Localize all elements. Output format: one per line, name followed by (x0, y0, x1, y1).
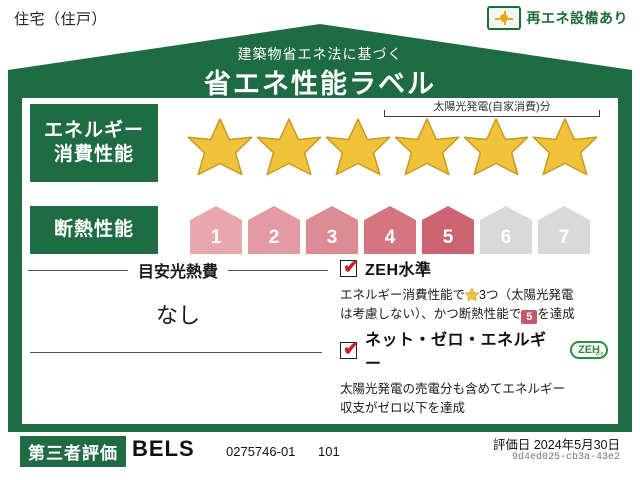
energy-label-line1: エネルギー (44, 119, 144, 143)
net-zero-energy-check-block: ✔ ネット・ゼロ・エネルギー ZEHﾏｰｸ 太陽光発電の売電分も含めてエネルギー… (340, 326, 608, 418)
insulation-chip-5: 5 (420, 204, 476, 256)
third-party-eval-badge: 第三者評価 (20, 436, 126, 467)
insulation-performance-label-box: 断熱性能 (30, 206, 158, 254)
star-2 (253, 118, 325, 176)
zeh-check-head: ✔ ZEH水準 (340, 256, 608, 280)
bels-logo: BELS (132, 436, 195, 462)
solar-bracket-note: 太陽光発電(自家消費)分 (384, 98, 600, 114)
nze-title: ネット・ゼロ・エネルギー (365, 326, 556, 374)
certificate-number-secondary: 101 (318, 444, 340, 459)
energy-performance-label-box: エネルギー 消費性能 (30, 104, 158, 182)
zeh-desc-level-chip: 5 (521, 310, 537, 324)
zeh-desc-part2: 3つ（太陽光発電 (479, 288, 573, 302)
star-4 (391, 118, 463, 176)
certificate-number: 0275746-01 (226, 444, 295, 459)
zeh-title: ZEH水準 (365, 256, 432, 280)
star-5 (460, 118, 532, 176)
zeh-mark-sub: ﾏｰｸ (595, 348, 603, 362)
nze-description: 太陽光発電の売電分も含めてエネルギー 収支がゼロ以下を達成 (340, 380, 608, 418)
zeh-checkbox: ✔ (340, 260, 357, 277)
insulation-chip-7: 7 (536, 204, 592, 256)
nze-desc-line1: 太陽光発電の売電分も含めてエネルギー (340, 382, 565, 396)
label-title: 省エネ性能ラベル (8, 62, 632, 101)
star-3 (322, 118, 394, 176)
star-1 (184, 118, 256, 176)
nze-check-head: ✔ ネット・ゼロ・エネルギー ZEHﾏｰｸ (340, 326, 608, 374)
label-subtitle: 建築物省エネ法に基づく (8, 44, 632, 64)
energy-star-rating (184, 118, 604, 176)
energy-performance-label: 住宅（住戸） 再エネ設備あり 建築物省エネ法に基づく 省エネ性能ラベル エネルギ… (0, 0, 640, 480)
utility-cost-value: なし (28, 298, 328, 330)
zeh-desc-line2a: は考慮しない）、かつ断熱性能で (340, 307, 521, 321)
footer: 第三者評価 BELS 0275746-01 101 評価日 2024年5月30日… (8, 430, 632, 472)
solar-consumption-bracket: 太陽光発電(自家消費)分 (384, 98, 600, 120)
zeh-check-block: ✔ ZEH水準 エネルギー消費性能で3つ（太陽光発電 は考慮しない）、かつ断熱性… (340, 256, 608, 324)
insulation-level-chips: 1234567 (188, 204, 600, 258)
insulation-chip-3: 3 (304, 204, 360, 256)
insulation-chip-2: 2 (246, 204, 302, 256)
zeh-mark-icon: ZEHﾏｰｸ (570, 341, 608, 359)
zeh-desc-line2b: を達成 (537, 307, 575, 321)
evaluation-date: 評価日 2024年5月30日 (493, 434, 620, 453)
utility-cost-underline (30, 352, 322, 353)
zeh-desc-part1: エネルギー消費性能で (340, 288, 465, 302)
insulation-chip-4: 4 (362, 204, 418, 256)
zeh-description: エネルギー消費性能で3つ（太陽光発電 は考慮しない）、かつ断熱性能で5を達成 (340, 286, 608, 324)
mini-star-icon (465, 288, 479, 301)
insulation-chip-1: 1 (188, 204, 244, 256)
insulation-chip-6: 6 (478, 204, 534, 256)
energy-label-line2: 消費性能 (54, 143, 134, 167)
utility-cost-title: 目安光熱費 (128, 258, 228, 282)
star-6 (529, 118, 601, 176)
document-hash: 9d4ed025-cb3a-43e2 (512, 452, 620, 463)
nze-checkbox: ✔ (340, 342, 357, 359)
nze-desc-line2: 収支がゼロ以下を達成 (340, 401, 465, 415)
insulation-label-text: 断熱性能 (54, 218, 134, 242)
utility-cost-heading: 目安光熱費 (28, 258, 328, 282)
